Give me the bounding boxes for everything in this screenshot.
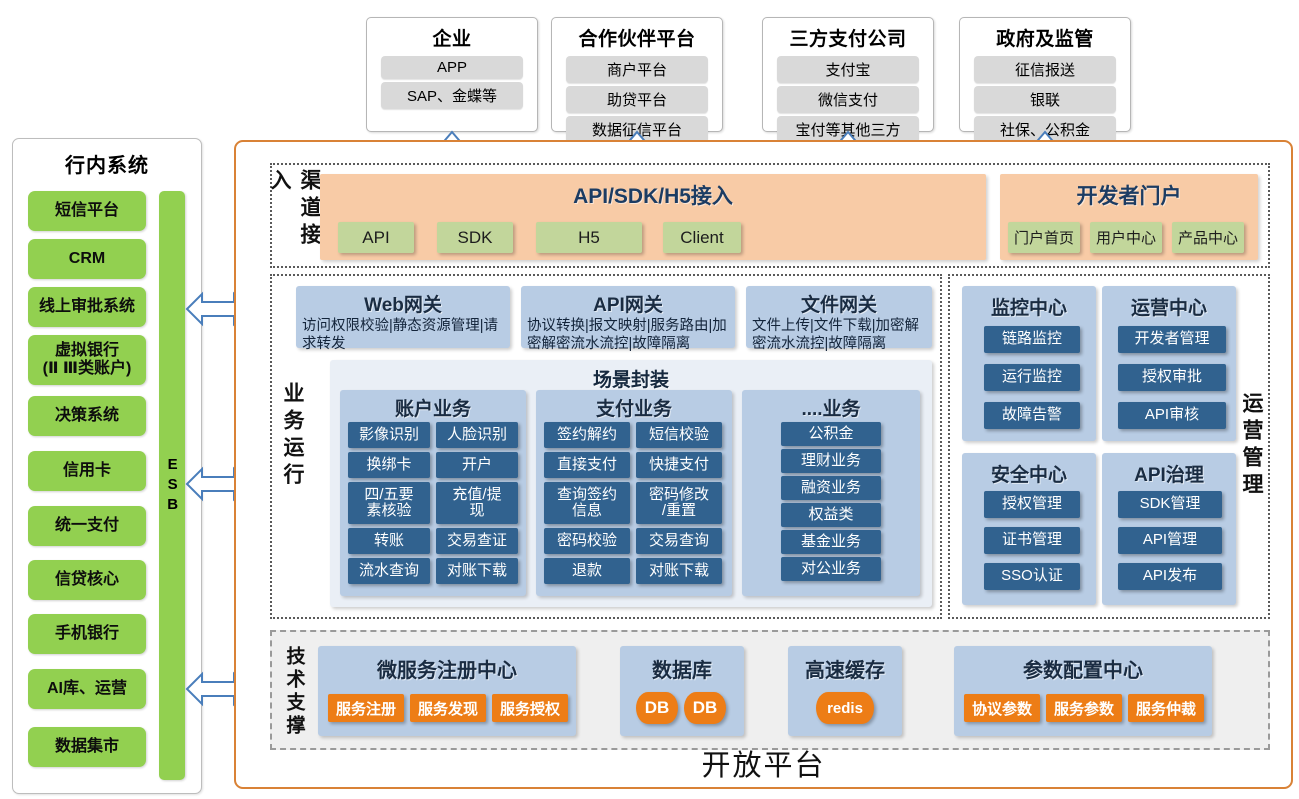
gateway-card-api: API网关 协议转换|报文映射|服务路由|加密解密流水流控|故障隔离	[521, 286, 735, 348]
chip-fault-alarm[interactable]: 故障告警	[984, 402, 1080, 429]
gateway-title-api: API网关	[521, 290, 735, 317]
chip-developer-mgmt[interactable]: 开发者管理	[1118, 326, 1226, 353]
chip-product-center[interactable]: 产品中心	[1172, 222, 1244, 253]
chip-link-monitor[interactable]: 链路监控	[984, 326, 1080, 353]
chip-rights[interactable]: 权益类	[781, 503, 881, 527]
external-box-partner: 合作伙伴平台 商户平台 助贷平台 数据征信平台	[551, 17, 723, 132]
scene-group-title-other: ....业务	[742, 390, 920, 421]
external-title-thirdparty-pay: 三方支付公司	[773, 24, 923, 51]
chip-open-account[interactable]: 开户	[436, 452, 518, 478]
chip-run-monitor[interactable]: 运行监控	[984, 364, 1080, 391]
bank-item-unified-pay[interactable]: 统一支付	[28, 506, 146, 546]
chip-service-register[interactable]: 服务注册	[328, 694, 404, 722]
external-item-credit-report[interactable]: 征信报送	[974, 56, 1116, 83]
tech-card-database: 数据库 DB DB	[620, 646, 744, 736]
external-item-loan-platform[interactable]: 助贷平台	[566, 86, 708, 113]
external-item-sap[interactable]: SAP、金蝶等	[381, 82, 523, 109]
api-sdk-h5-access-title: API/SDK/H5接入	[320, 174, 986, 210]
gateway-desc-file: 文件上传|文件下载|加密解密流水流控|故障隔离	[746, 317, 932, 353]
tech-title-microservice-registry: 微服务注册中心	[318, 646, 576, 683]
chip-sdk-mgmt[interactable]: SDK管理	[1118, 491, 1222, 518]
ops-card-security-center: 安全中心 授权管理 证书管理 SSO认证	[962, 453, 1096, 605]
chip-password-reset[interactable]: 密码修改 /重置	[636, 482, 722, 524]
tech-title-database: 数据库	[620, 646, 744, 683]
external-item-app[interactable]: APP	[381, 56, 523, 79]
chip-direct-pay[interactable]: 直接支付	[544, 452, 630, 478]
bank-item-decision[interactable]: 决策系统	[28, 396, 146, 436]
chip-recon-download-payment[interactable]: 对账下载	[636, 558, 722, 584]
scene-group-other: ....业务 公积金 理财业务 融资业务 权益类 基金业务 对公业务	[742, 390, 920, 596]
chip-element-verify[interactable]: 四/五要 素核验	[348, 482, 430, 524]
chip-housing-fund[interactable]: 公积金	[781, 422, 881, 446]
chip-sign-unsign[interactable]: 签约解约	[544, 422, 630, 448]
business-running-section: 业务运行 Web网关 访问权限校验|静态资源管理|请求转发 API网关 协议转换…	[270, 274, 942, 619]
operations-management-vertical-label: 运营管理	[1236, 386, 1266, 506]
ops-card-operation-center: 运营中心 开发者管理 授权审批 API审核	[1102, 286, 1236, 441]
chip-api-review[interactable]: API审核	[1118, 402, 1226, 429]
chip-auth-mgmt[interactable]: 授权管理	[984, 491, 1080, 518]
chip-service-discovery[interactable]: 服务发现	[410, 694, 486, 722]
chip-api-mgmt[interactable]: API管理	[1118, 527, 1222, 554]
chip-trade-verify[interactable]: 交易查证	[436, 528, 518, 554]
chip-service-authorize[interactable]: 服务授权	[492, 694, 568, 722]
ops-card-api-governance: API治理 SDK管理 API管理 API发布	[1102, 453, 1236, 605]
chip-cert-mgmt[interactable]: 证书管理	[984, 527, 1080, 554]
bank-item-credit-card[interactable]: 信用卡	[28, 451, 146, 491]
operations-management-section: 运营管理 监控中心 链路监控 运行监控 故障告警 运营中心 开发者管理 授权审批…	[948, 274, 1270, 619]
tech-card-cache: 高速缓存 redis	[788, 646, 902, 736]
chip-client[interactable]: Client	[663, 222, 741, 253]
business-running-vertical-label: 业务运行	[276, 376, 308, 496]
bank-item-sms[interactable]: 短信平台	[28, 191, 146, 231]
chip-api-publish[interactable]: API发布	[1118, 563, 1222, 590]
chip-refund[interactable]: 退款	[544, 558, 630, 584]
chip-face-recognition[interactable]: 人脸识别	[436, 422, 518, 448]
ops-card-monitor-center: 监控中心 链路监控 运行监控 故障告警	[962, 286, 1096, 441]
scene-group-title-payment: 支付业务	[536, 390, 732, 421]
chip-sdk[interactable]: SDK	[437, 222, 513, 253]
bank-item-data-mart[interactable]: 数据集市	[28, 727, 146, 767]
chip-trade-query[interactable]: 交易查询	[636, 528, 722, 554]
ops-title-api-governance: API治理	[1102, 453, 1236, 487]
external-title-government: 政府及监管	[970, 24, 1120, 51]
bank-item-mobile-bank[interactable]: 手机银行	[28, 614, 146, 654]
tech-support-vertical-label: 技术支撑	[278, 642, 310, 742]
chip-api[interactable]: API	[338, 222, 414, 253]
gateway-title-web: Web网关	[296, 290, 510, 317]
api-sdk-h5-access-block: API/SDK/H5接入 API SDK H5 Client	[320, 174, 986, 260]
tech-title-param-config-center: 参数配置中心	[954, 646, 1212, 683]
external-title-enterprise: 企业	[377, 24, 527, 51]
bank-item-loan-core[interactable]: 信贷核心	[28, 560, 146, 600]
gateway-card-file: 文件网关 文件上传|文件下载|加密解密流水流控|故障隔离	[746, 286, 932, 348]
chip-password-verify[interactable]: 密码校验	[544, 528, 630, 554]
tech-card-param-config-center: 参数配置中心 协议参数 服务参数 服务仲裁	[954, 646, 1212, 736]
developer-portal-title: 开发者门户	[1000, 174, 1258, 210]
chip-user-center[interactable]: 用户中心	[1090, 222, 1162, 253]
scene-group-title-account: 账户业务	[340, 390, 526, 421]
channel-access-section: 渠道接入 API/SDK/H5接入 API SDK H5 Client 开发者门…	[270, 163, 1270, 268]
scene-group-account: 账户业务 影像识别 换绑卡 四/五要 素核验 转账 流水查询 人脸识别 开户 充…	[340, 390, 526, 596]
db-pill-1[interactable]: DB	[636, 692, 678, 724]
chip-protocol-param[interactable]: 协议参数	[964, 694, 1040, 722]
tech-support-section: 技术支撑 微服务注册中心 服务注册 服务发现 服务授权 数据库 DB DB 高速…	[270, 630, 1270, 750]
architecture-diagram: 行内系统 ESB 短信平台 CRM 线上审批系统 虚拟银行 (Ⅱ Ⅲ类账户) 决…	[0, 0, 1299, 799]
bank-systems-title: 行内系统	[13, 139, 201, 178]
external-title-partner: 合作伙伴平台	[562, 24, 712, 51]
ops-title-monitor-center: 监控中心	[962, 286, 1096, 320]
bank-item-virtual-bank[interactable]: 虚拟银行 (Ⅱ Ⅲ类账户)	[28, 335, 146, 385]
external-box-enterprise: 企业 APP SAP、金蝶等	[366, 17, 538, 132]
gateway-desc-api: 协议转换|报文映射|服务路由|加密解密流水流控|故障隔离	[521, 317, 735, 353]
chip-sms-verify[interactable]: 短信校验	[636, 422, 722, 448]
channel-access-vertical-label: 渠道接入	[278, 169, 310, 265]
ops-title-operation-center: 运营中心	[1102, 286, 1236, 320]
external-box-government: 政府及监管 征信报送 银联 社保、公积金	[959, 17, 1131, 132]
scene-encapsulation-panel: 场景封装 账户业务 影像识别 换绑卡 四/五要 素核验 转账 流水查询 人脸识别…	[330, 360, 932, 607]
chip-topup-withdraw[interactable]: 充值/提 现	[436, 482, 518, 524]
chip-quick-pay[interactable]: 快捷支付	[636, 452, 722, 478]
bank-item-ai-ops[interactable]: AI库、运营	[28, 669, 146, 709]
gateway-card-web: Web网关 访问权限校验|静态资源管理|请求转发	[296, 286, 510, 348]
chip-fund-business[interactable]: 基金业务	[781, 530, 881, 554]
bank-item-approval[interactable]: 线上审批系统	[28, 287, 146, 327]
ops-title-security-center: 安全中心	[962, 453, 1096, 487]
tech-card-microservice-registry: 微服务注册中心 服务注册 服务发现 服务授权	[318, 646, 576, 736]
chip-transfer[interactable]: 转账	[348, 528, 430, 554]
chip-flow-query[interactable]: 流水查询	[348, 558, 430, 584]
developer-portal-block: 开发者门户 门户首页 用户中心 产品中心	[1000, 174, 1258, 260]
db-pill-2[interactable]: DB	[684, 692, 726, 724]
scene-group-payment: 支付业务 签约解约 直接支付 查询签约 信息 密码校验 退款 短信校验 快捷支付…	[536, 390, 732, 596]
chip-wealth-mgmt[interactable]: 理财业务	[781, 449, 881, 473]
esb-label: ESB	[162, 456, 182, 516]
external-item-wechatpay[interactable]: 微信支付	[777, 86, 919, 113]
scene-encapsulation-title: 场景封装	[330, 365, 932, 392]
external-box-thirdparty-pay: 三方支付公司 支付宝 微信支付 宝付等其他三方	[762, 17, 934, 132]
chip-rebind-card[interactable]: 换绑卡	[348, 452, 430, 478]
chip-h5[interactable]: H5	[536, 222, 642, 253]
tech-title-cache: 高速缓存	[788, 646, 902, 683]
external-item-alipay[interactable]: 支付宝	[777, 56, 919, 83]
external-item-unionpay[interactable]: 银联	[974, 86, 1116, 113]
bank-item-crm[interactable]: CRM	[28, 239, 146, 279]
chip-recon-download-account[interactable]: 对账下载	[436, 558, 518, 584]
chip-corporate[interactable]: 对公业务	[781, 557, 881, 581]
chip-image-recognition[interactable]: 影像识别	[348, 422, 430, 448]
esb-bar: ESB	[159, 191, 185, 780]
chip-service-param[interactable]: 服务参数	[1046, 694, 1122, 722]
gateway-title-file: 文件网关	[746, 290, 932, 317]
chip-sso-auth[interactable]: SSO认证	[984, 563, 1080, 590]
chip-service-arbitration[interactable]: 服务仲裁	[1128, 694, 1204, 722]
chip-query-sign-info[interactable]: 查询签约 信息	[544, 482, 630, 524]
chip-auth-approval[interactable]: 授权审批	[1118, 364, 1226, 391]
redis-pill[interactable]: redis	[816, 692, 874, 724]
external-item-merchant-platform[interactable]: 商户平台	[566, 56, 708, 83]
chip-portal-home[interactable]: 门户首页	[1008, 222, 1080, 253]
gateway-desc-web: 访问权限校验|静态资源管理|请求转发	[296, 317, 510, 353]
bank-systems-panel: 行内系统 ESB 短信平台 CRM 线上审批系统 虚拟银行 (Ⅱ Ⅲ类账户) 决…	[12, 138, 202, 794]
chip-financing[interactable]: 融资业务	[781, 476, 881, 500]
